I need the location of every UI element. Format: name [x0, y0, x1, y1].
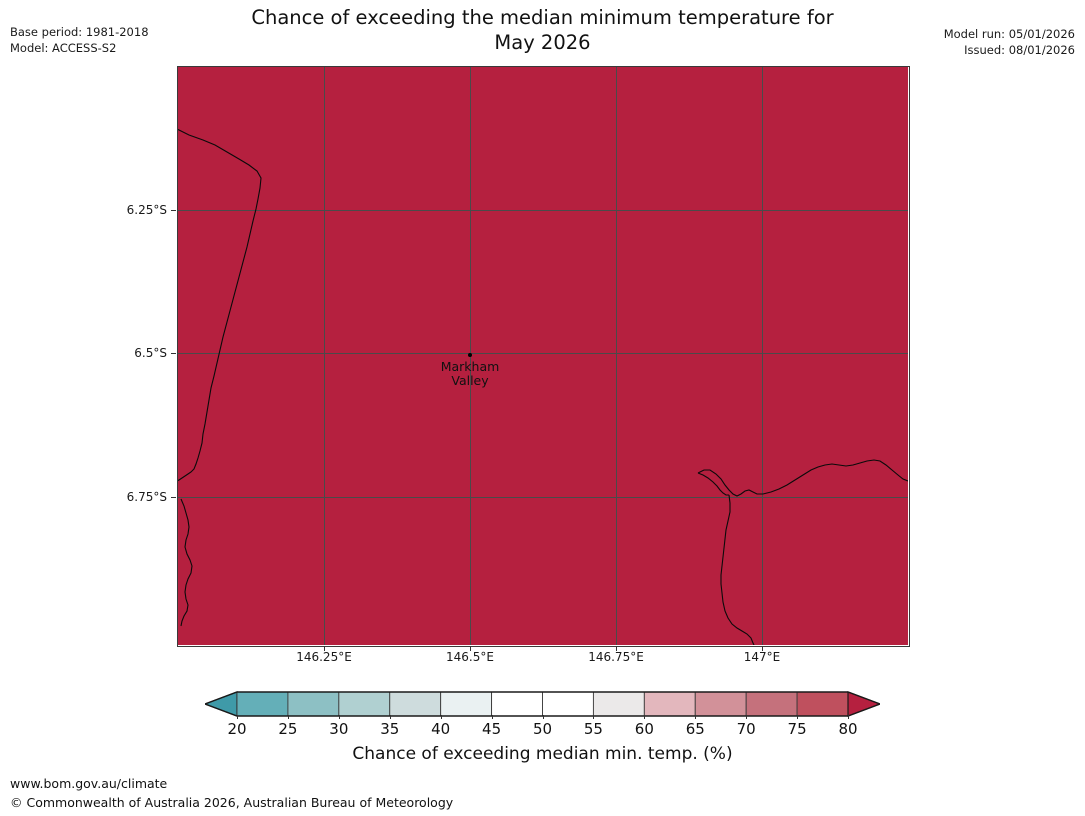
header-left-meta: Base period: 1981-2018 Model: ACCESS-S2: [10, 24, 149, 56]
colorbar-tick-mark: [593, 715, 594, 719]
colorbar-tick-mark: [390, 715, 391, 719]
colorbar-tick-mark: [695, 715, 696, 719]
yaxis-tick: [171, 353, 176, 354]
model-run-label: Model run: 05/01/2026: [944, 26, 1075, 42]
colorbar-tick-mark: [492, 715, 493, 719]
colorbar-tick-label: 70: [737, 720, 756, 738]
colorbar-tick-label: 60: [635, 720, 654, 738]
footer-website-link[interactable]: www.bom.gov.au/climate: [10, 775, 167, 792]
yaxis-label: 6.5°S: [134, 346, 167, 360]
colorbar-tick-mark: [288, 715, 289, 719]
yaxis-tick: [171, 210, 176, 211]
xaxis-label: 146.5°E: [446, 650, 494, 664]
page-title: Chance of exceeding the median minimum t…: [0, 5, 1085, 55]
colorbar-tick-mark: [543, 715, 544, 719]
yaxis-tick: [171, 497, 176, 498]
colorbar-tick-label: 25: [278, 720, 297, 738]
coastline-path-west: [177, 129, 261, 481]
colorbar-tick-label: 20: [227, 720, 246, 738]
colorbar-tick-row: 20253035404550556065707580: [205, 718, 880, 740]
colorbar-tick-label: 75: [788, 720, 807, 738]
coastline-path-east: [698, 460, 908, 496]
model-label: Model: ACCESS-S2: [10, 40, 149, 56]
colorbar-tick-mark: [644, 715, 645, 719]
colorbar-tick-label: 65: [686, 720, 705, 738]
colorbar-tick-mark: [848, 715, 849, 719]
colorbar-tick-mark: [746, 715, 747, 719]
coastline-path-southwest: [181, 499, 192, 626]
city-label-line1: Markham: [441, 360, 500, 374]
footer-copyright: © Commonwealth of Australia 2026, Austra…: [10, 794, 453, 811]
colorbar-tick-label: 40: [431, 720, 450, 738]
page-title-line2: May 2026: [0, 30, 1085, 55]
colorbar-tick-label: 55: [584, 720, 603, 738]
colorbar-caption: Chance of exceeding median min. temp. (%…: [0, 744, 1085, 764]
xaxis-label: 146.75°E: [588, 650, 644, 664]
colorbar-tick-mark: [441, 715, 442, 719]
coastline-path-east-south: [721, 495, 754, 645]
colorbar-tick-label: 45: [482, 720, 501, 738]
xaxis-label: 146.25°E: [296, 650, 352, 664]
xaxis-label: 147°E: [744, 650, 781, 664]
colorbar-tick-label: 80: [838, 720, 857, 738]
base-period-label: Base period: 1981-2018: [10, 24, 149, 40]
colorbar-tick-label: 50: [533, 720, 552, 738]
city-marker-dot: [468, 353, 472, 357]
page-title-line1: Chance of exceeding the median minimum t…: [251, 6, 833, 29]
colorbar-tick-mark: [237, 715, 238, 719]
colorbar-tick-mark: [797, 715, 798, 719]
city-label-line2: Valley: [441, 374, 500, 388]
yaxis-label: 6.25°S: [127, 203, 167, 217]
map-plot-area[interactable]: Markham Valley: [177, 66, 908, 645]
colorbar-tick-label: 35: [380, 720, 399, 738]
coastline-overlay: [177, 66, 908, 645]
colorbar-tick-mark: [339, 715, 340, 719]
yaxis-label: 6.75°S: [127, 490, 167, 504]
issued-label: Issued: 08/01/2026: [944, 42, 1075, 58]
header-right-meta: Model run: 05/01/2026 Issued: 08/01/2026: [944, 26, 1075, 58]
colorbar-tick-label: 30: [329, 720, 348, 738]
city-label-markham-valley: Markham Valley: [441, 360, 500, 388]
